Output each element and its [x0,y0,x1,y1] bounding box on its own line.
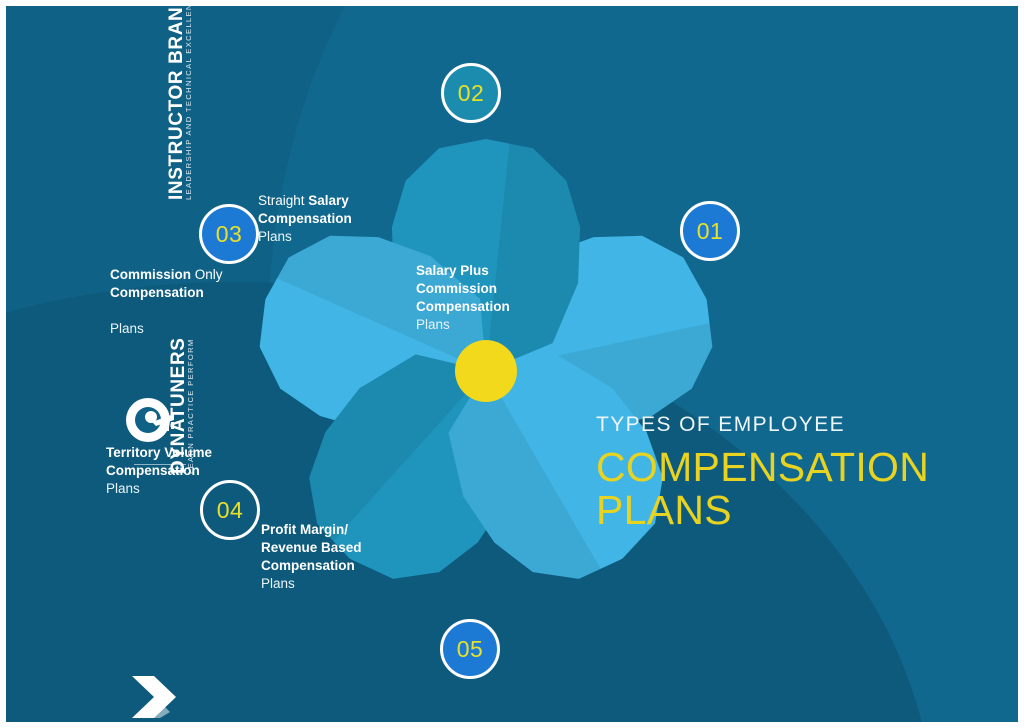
petal-03-subtitle: Plans [110,320,280,338]
petal-01-label: Salary Plus Commission Compensation Plan… [416,244,566,352]
infographic-canvas: INSTRUCTOR BRANDON LEADERSHIP AND TECHNI… [0,0,1024,728]
title-kicker: TYPES OF EMPLOYEE [596,412,996,438]
badge-01[interactable]: 01 [680,201,740,261]
badge-05[interactable]: 05 [440,619,500,679]
petal-03-label: Commission Only Compensation Plans [110,248,280,356]
petal-02-label: Straight Salary Compensation Plans [258,174,428,264]
title-line-2: PLANS [596,489,996,532]
badge-04[interactable]: 04 [200,480,260,540]
petal-03-title: Commission [110,267,191,282]
petal-02-lead: Straight [258,193,308,208]
title-line-1: COMPENSATION [596,446,996,489]
petal-01-subtitle: Plans [416,316,566,334]
petal-05-subtitle: Plans [261,575,421,593]
title-block: TYPES OF EMPLOYEE COMPENSATION PLANS [596,412,996,532]
petal-05-label: Profit Margin/ Revenue Based Compensatio… [261,503,421,611]
petal-01-title: Salary Plus Commission Compensation [416,263,510,314]
badge-02[interactable]: 02 [441,63,501,123]
petal-02-subtitle: Plans [258,228,428,246]
petal-03-title2: Compensation [110,284,280,302]
petal-05-title: Profit Margin/ Revenue Based Compensatio… [261,522,362,573]
petal-03-mid: Only [191,267,223,282]
brand-rail: INSTRUCTOR BRANDON LEADERSHIP AND TECHNI… [60,92,170,662]
petal-04-title: Territory Volume Compensation [106,445,212,478]
badge-03[interactable]: 03 [199,204,259,264]
